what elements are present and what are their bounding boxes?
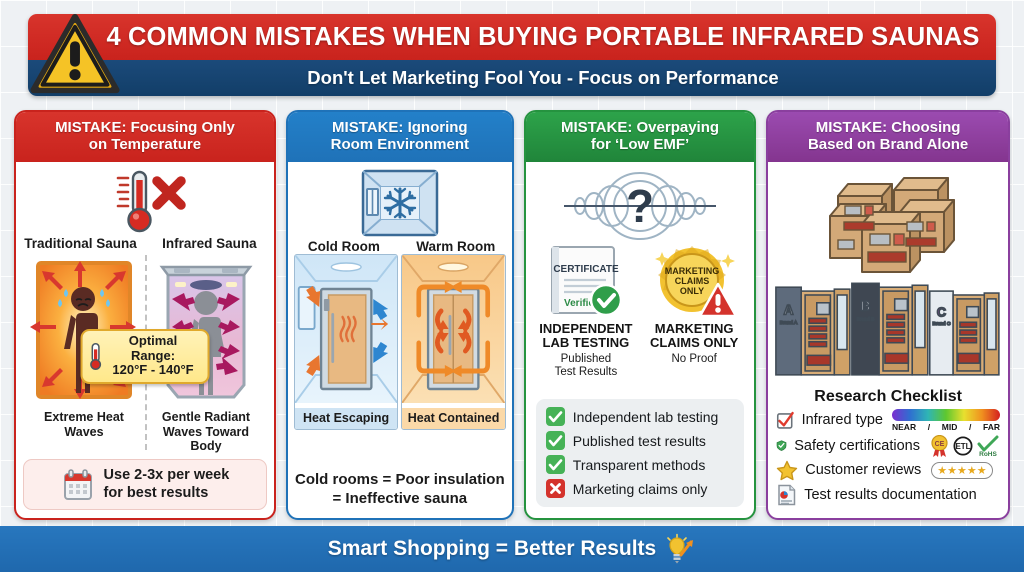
panel-2-note: Cold rooms = Poor insulation = Ineffecti… (294, 471, 506, 508)
cabinet-sublabel-a: Brand A (780, 320, 798, 326)
header-subtitle-bar: Don't Let Marketing Fool You - Focus on … (28, 60, 996, 96)
compare-label-traditional: Traditional Sauna (16, 236, 145, 251)
panel-2-rooms: Heat Escaping (288, 254, 512, 430)
check-ok-icon (546, 407, 565, 426)
marketing-claims-badge-icon: MARKETING CLAIMS ONLY (648, 244, 740, 318)
research-checklist-title: Research Checklist (768, 388, 1008, 406)
panel-4-cabinets-wrap: A Brand A B Brand B (768, 280, 1008, 384)
checklist-item[interactable]: Published test results (546, 431, 734, 450)
svg-text:MARKETING: MARKETING (665, 266, 720, 276)
panel-4-heading: MISTAKE: Choosing Based on Brand Alone (768, 112, 1008, 162)
checklist-item[interactable]: Independent lab testing (546, 407, 734, 426)
optimal-range-text: Optimal Range: 120°F - 140°F (108, 334, 199, 378)
marketing-claims-only-subline: No Proof (671, 353, 716, 366)
compare-label-infrared: Infrared Sauna (145, 236, 274, 251)
header-title-bar: 4 COMMON MISTAKES WHEN BUYING PORTABLE I… (28, 14, 996, 60)
checklist-item-label: Transparent methods (573, 457, 706, 473)
marketing-claims-only-col: MARKETING CLAIMS ONLY MARKETING CLAIMS (640, 244, 748, 380)
ir-tick-far: FAR (983, 422, 1000, 432)
independent-lab-testing-headline: INDEPENDENT LAB TESTING (539, 322, 632, 351)
panel-3-heading: MISTAKE: Overpaying for ‘Low EMF’ (526, 112, 754, 162)
cold-room-illustration (295, 255, 397, 403)
research-item-label: Customer reviews (805, 462, 921, 478)
panel-1-caption-traditional: Extreme Heat Waves (26, 410, 142, 440)
cabinet-sublabel-c: Brand C (933, 321, 951, 327)
stacked-shipping-boxes-icon (808, 168, 968, 280)
ir-spectrum-bar: NEAR / MID / FAR (892, 409, 1000, 432)
independent-lab-testing-col: CERTIFICATE Verified INDEPENDENT LAB TES… (532, 244, 640, 380)
panel-3-body: ? CERTIFICATE Verified (526, 162, 754, 518)
ir-spectrum-gradient (892, 409, 1000, 421)
panel-overpaying-for-low-emf[interactable]: MISTAKE: Overpaying for ‘Low EMF’ ? (524, 110, 756, 520)
panel-focusing-only-on-temperature[interactable]: MISTAKE: Focusing Only on Temperature (14, 110, 276, 520)
checked-box-icon (776, 410, 794, 431)
compare-label-cold-room: Cold Room (288, 239, 400, 254)
research-item-test-results-documentation[interactable]: Test results documentation (776, 484, 1000, 506)
header: 4 COMMON MISTAKES WHEN BUYING PORTABLE I… (0, 0, 1024, 104)
panel-2-caption-warm: Heat Contained (402, 408, 504, 429)
panel-1-top-icon-wrap (16, 162, 274, 236)
optimal-range-line2: 120°F - 140°F (108, 363, 199, 378)
panel-2-heading: MISTAKE: Ignoring Room Environment (288, 112, 512, 162)
warm-room-card: Heat Contained (401, 254, 505, 430)
panel-3-top-icon-wrap: ? (526, 162, 754, 244)
panel-1-footer-note-text: Use 2-3x per week for best results (104, 467, 230, 502)
panel-ignoring-room-environment[interactable]: MISTAKE: Ignoring Room Environment (286, 110, 514, 520)
rohs-mark-icon: RoHS (976, 435, 1000, 457)
svg-text:ETL: ETL (955, 442, 970, 451)
cold-room-snowflake-icon (361, 169, 439, 237)
svg-text:CLAIMS: CLAIMS (675, 276, 710, 286)
certificate-title: CERTIFICATE (553, 264, 619, 275)
panel-2-top-icon-wrap (288, 162, 512, 239)
panels-row: MISTAKE: Focusing Only on Temperature (0, 104, 1024, 526)
marketing-claims-only-headline: MARKETING CLAIMS ONLY (650, 322, 738, 351)
check-x-icon (546, 479, 565, 498)
cabinet-letter-a: A (784, 302, 794, 317)
page-subtitle: Don't Let Marketing Fool You - Focus on … (307, 67, 778, 89)
ir-tick-mid: MID (942, 422, 958, 432)
compare-label-warm-room: Warm Room (400, 239, 512, 254)
svg-text:RoHS: RoHS (979, 451, 997, 457)
panel-1-heading: MISTAKE: Focusing Only on Temperature (16, 112, 274, 162)
panel-choosing-based-on-brand-alone[interactable]: MISTAKE: Choosing Based on Brand Alone (766, 110, 1010, 520)
panel-2-compare-labels: Cold Room Warm Room (288, 239, 512, 254)
panel-1-comparison-art: Extreme Heat Waves (16, 251, 274, 454)
calendar-icon (61, 468, 95, 502)
checklist-item[interactable]: Marketing claims only (546, 479, 734, 498)
panel-1-compare-labels: Traditional Sauna Infrared Sauna (16, 236, 274, 251)
document-chart-icon (776, 484, 797, 506)
page-title: 4 COMMON MISTAKES WHEN BUYING PORTABLE I… (107, 23, 980, 52)
checklist-item-label: Independent lab testing (573, 409, 719, 425)
ir-tick-sep1: / (928, 422, 930, 432)
panel-4-boxes-wrap (768, 162, 1008, 280)
panel-1-footer-note: Use 2-3x per week for best results (23, 459, 267, 510)
research-checklist: Infrared type NEAR / MID / FAR (768, 409, 1008, 516)
etl-mark-icon: ETL (953, 436, 973, 456)
cabinet-letter-c: C (937, 305, 946, 319)
independent-lab-testing-subline: Published Test Results (555, 353, 618, 379)
thermometer-icon (88, 341, 102, 371)
cabinet-letter-b: B (861, 298, 871, 313)
check-ok-icon (546, 455, 565, 474)
cold-room-card: Heat Escaping (294, 254, 398, 430)
five-star-rating: ★★★★★ (931, 462, 992, 479)
footer-banner: Smart Shopping = Better Results (0, 526, 1024, 572)
ir-spectrum-ticks: NEAR / MID / FAR (892, 422, 1000, 432)
panel-1-body: Traditional Sauna Infrared Sauna (16, 162, 274, 518)
lightbulb-growth-arrow-icon (664, 533, 696, 565)
research-item-infrared-type[interactable]: Infrared type NEAR / MID / FAR (776, 409, 1000, 432)
svg-text:CE: CE (935, 441, 945, 448)
warm-room-illustration (402, 255, 504, 403)
panel-2-body: Cold Room Warm Room (288, 162, 512, 518)
panel-4-body: A Brand A B Brand B (768, 162, 1008, 518)
ir-tick-near: NEAR (892, 422, 916, 432)
panel-3-columns: CERTIFICATE Verified INDEPENDENT LAB TES… (526, 244, 754, 380)
certification-marks: CE ETL RoHS (929, 435, 1000, 457)
research-item-label: Test results documentation (804, 487, 976, 503)
checklist-item[interactable]: Transparent methods (546, 455, 734, 474)
infographic-root: 4 COMMON MISTAKES WHEN BUYING PORTABLE I… (0, 0, 1024, 572)
panel-2-caption-cold: Heat Escaping (295, 408, 397, 429)
research-item-customer-reviews[interactable]: Customer reviews ★★★★★ (776, 460, 1000, 481)
emf-waveform-question-mark-icon: ? (552, 170, 728, 242)
svg-text:?: ? (626, 180, 654, 232)
thermometer-with-red-x-icon (102, 168, 188, 234)
optimal-range-line1: Optimal Range: (108, 334, 199, 364)
warning-triangle-icon (30, 12, 120, 96)
research-item-label: Infrared type (802, 412, 883, 428)
check-ok-icon (546, 431, 565, 450)
checklist-item-label: Marketing claims only (573, 481, 708, 497)
header-bars: 4 COMMON MISTAKES WHEN BUYING PORTABLE I… (28, 14, 996, 96)
shield-check-icon (776, 435, 787, 456)
star-icon (776, 460, 798, 481)
ce-mark-icon: CE (929, 435, 950, 457)
sauna-cabinets-illustration: A Brand A B Brand B (772, 280, 1004, 384)
panel-3-checklist: Independent lab testing Published test r… (536, 399, 744, 507)
certificate-verified-icon: CERTIFICATE Verified (540, 244, 632, 318)
footer-text: Smart Shopping = Better Results (328, 537, 656, 561)
panel-1-caption-infrared: Gentle Radiant Waves Toward Body (148, 410, 264, 454)
optimal-range-badge: Optimal Range: 120°F - 140°F (80, 329, 209, 384)
svg-text:ONLY: ONLY (680, 286, 704, 296)
cabinet-sublabel-b: Brand B (857, 316, 875, 322)
checklist-item-label: Published test results (573, 433, 706, 449)
research-item-label: Safety certifications (794, 438, 920, 454)
research-item-safety-certifications[interactable]: Safety certifications CE ETL (776, 435, 1000, 457)
ir-tick-sep2: / (969, 422, 971, 432)
